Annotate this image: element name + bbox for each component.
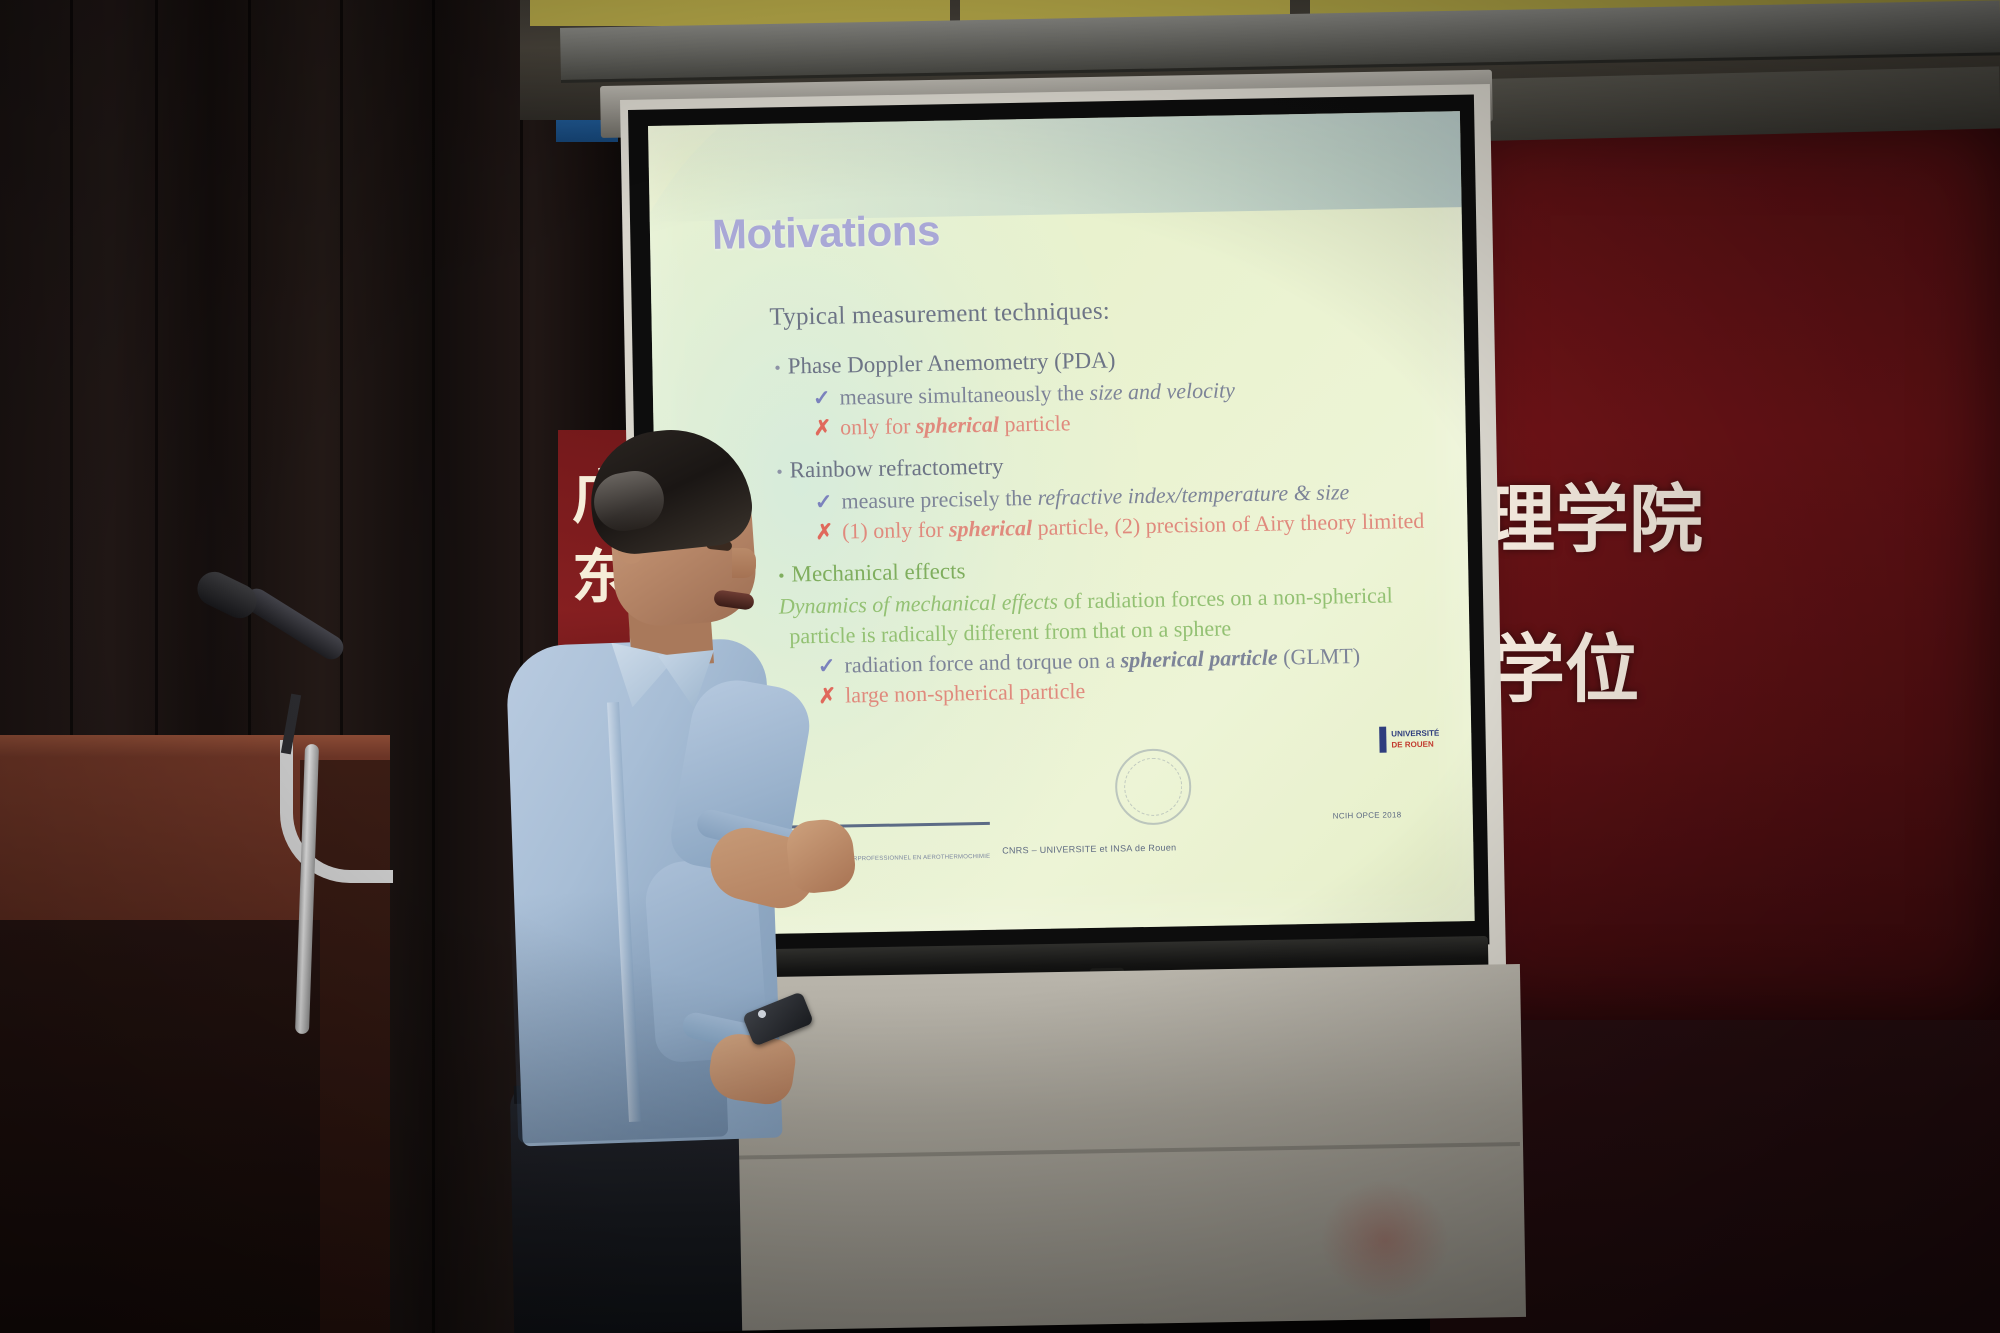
- bullet-pda: • Phase Doppler Anemometry (PDA): [774, 341, 1450, 379]
- pda-sub1-part1: measure simultaneously the: [839, 380, 1089, 410]
- slide-header-band: [648, 111, 1462, 222]
- coria-affiliation: CNRS – UNIVERSITE et INSA de Rouen: [1002, 842, 1176, 859]
- mech-sub1-part1: radiation force and torque on a: [844, 647, 1121, 677]
- wall-stain: [1320, 1180, 1450, 1300]
- chinese-banner-right: 理学院 学位: [1455, 120, 2000, 1020]
- pda-sub1-part2: size and velocity: [1089, 377, 1235, 405]
- mech-sub1-part3: (GLMT): [1277, 643, 1360, 670]
- bullet-dot-icon: •: [774, 359, 781, 377]
- presenter-nose: [732, 548, 756, 578]
- presenter-right-fist: [784, 817, 857, 896]
- universite-rouen-logo: UNIVERSITÉ DE ROUEN: [1379, 726, 1439, 753]
- pda-sub2-part2: spherical: [916, 412, 1000, 439]
- mech-sub1-part2: spherical particle: [1120, 645, 1277, 673]
- slide-title: Motivations: [712, 207, 941, 259]
- rainbow-sub1-part2: refractive index/temperature & size: [1037, 479, 1349, 510]
- podium-shadow-front: [0, 920, 320, 1333]
- rouen-line-2: DE ROUEN: [1391, 739, 1439, 751]
- rouen-bar-icon: [1379, 727, 1386, 753]
- presenter-person: [500, 420, 880, 1333]
- conference-tag: NCIH OPCE 2018: [1333, 810, 1402, 820]
- check-icon: ✓: [813, 386, 831, 411]
- rainbow-sub2-part2: spherical: [949, 515, 1033, 542]
- pda-sub2-part3: particle: [999, 410, 1071, 436]
- banner-char-1: 理学院: [1481, 460, 1703, 567]
- banner-char-2: 学位: [1491, 610, 1639, 717]
- mech-para-part2: of radiation forces on a non-spherical: [1058, 582, 1393, 613]
- university-seal-watermark: [1115, 748, 1192, 825]
- rouen-line-1: UNIVERSITÉ: [1391, 728, 1439, 740]
- rainbow-sub2-part3: particle, (2) precision of Airy theory l…: [1032, 508, 1425, 540]
- mech-sub2-part1: large non-spherical particle: [845, 678, 1086, 708]
- bullet-pda-label: Phase Doppler Anemometry (PDA): [788, 347, 1116, 379]
- presentation-photo-scene: 理学院 学位 广 东 CAUTION HOT LAMP Motivations …: [0, 0, 2000, 1333]
